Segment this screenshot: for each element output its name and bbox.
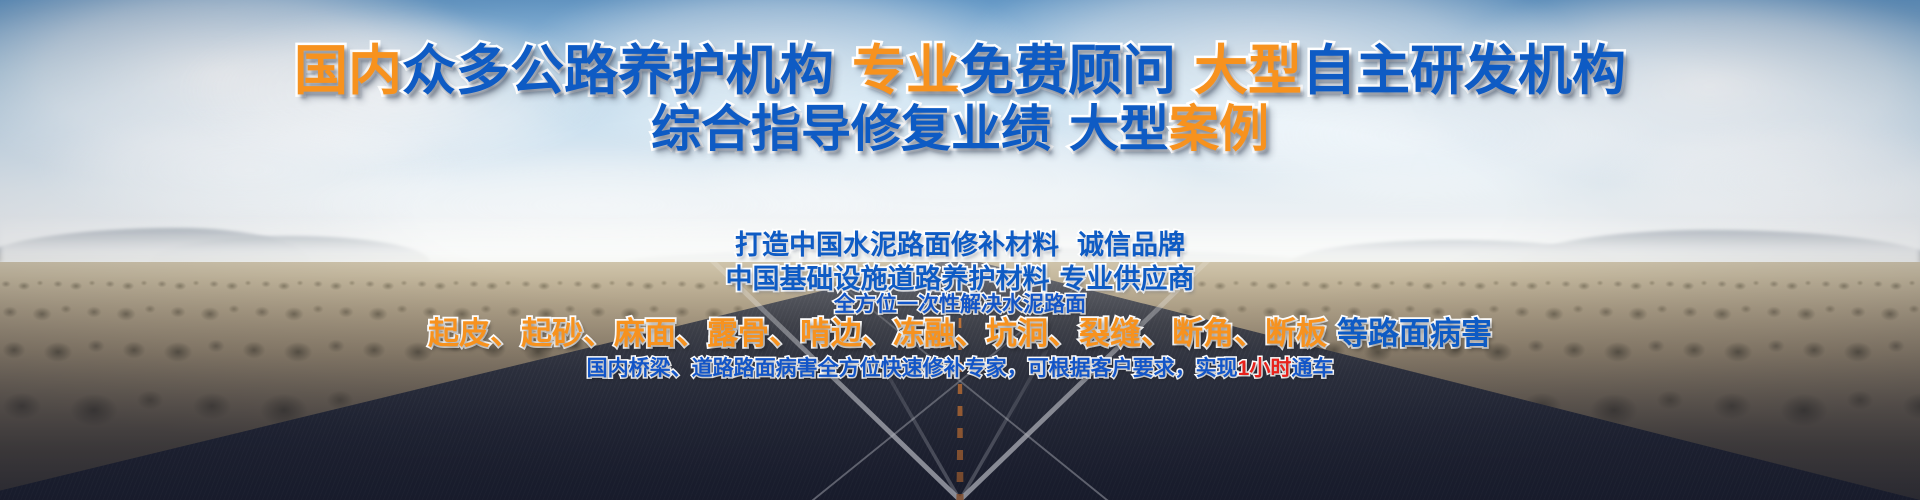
subheadline-1-tag: 诚信品牌 [1077, 230, 1185, 260]
headline-line-2: 综合指导修复业绩大型案例 [0, 104, 1920, 154]
bottom-disease-line: 起皮、起砂、麻面、露骨、啃边、冻融、坑洞、裂缝、断角、断板等路面病害 [0, 318, 1920, 349]
headline-2-seg-1: 大型 [1069, 101, 1169, 157]
subheadline-1-main: 打造中国水泥路面修补材料 [735, 230, 1059, 260]
bottom-lead-line: 全方位一次性解决水泥路面 [0, 294, 1920, 315]
headline-1-seg-2: 专业 [852, 41, 960, 101]
headline-2-seg-2: 案例 [1169, 101, 1269, 157]
headline-1-seg-0: 国内 [294, 41, 402, 101]
subheadline-line-1: 打造中国水泥路面修补材料诚信品牌 [0, 228, 1920, 264]
headline-1-seg-5: 自主研发机构 [1302, 41, 1626, 101]
subheadline-2-tag: 专业供应商 [1060, 264, 1195, 294]
disease-suffix: 等路面病害 [1337, 316, 1492, 351]
last-line-highlight: 1小时 [1238, 357, 1292, 380]
headline-1-seg-4: 大型 [1194, 41, 1302, 101]
promo-banner: 国内众多公路养护机构专业免费顾问大型自主研发机构 综合指导修复业绩大型案例 打造… [0, 0, 1920, 500]
headline-2-seg-0: 综合指导修复业绩 [651, 101, 1051, 157]
last-line-prefix: 国内桥梁、道路路面病害全方位快速修补专家，可根据客户要求，实现 [587, 357, 1238, 380]
banner-content: 国内众多公路养护机构专业免费顾问大型自主研发机构 综合指导修复业绩大型案例 打造… [0, 0, 1920, 500]
last-line-suffix: 通车 [1291, 357, 1333, 380]
headline-line-1: 国内众多公路养护机构专业免费顾问大型自主研发机构 [0, 44, 1920, 98]
disease-list: 起皮、起砂、麻面、露骨、啃边、冻融、坑洞、裂缝、断角、断板 [428, 316, 1327, 351]
headline-1-seg-3: 免费顾问 [960, 41, 1176, 101]
headline-1-seg-1: 众多公路养护机构 [402, 41, 834, 101]
subheadline-2-main: 中国基础设施道路养护材料 [726, 264, 1050, 294]
bottom-last-line: 国内桥梁、道路路面病害全方位快速修补专家，可根据客户要求，实现1小时通车 [0, 358, 1920, 379]
